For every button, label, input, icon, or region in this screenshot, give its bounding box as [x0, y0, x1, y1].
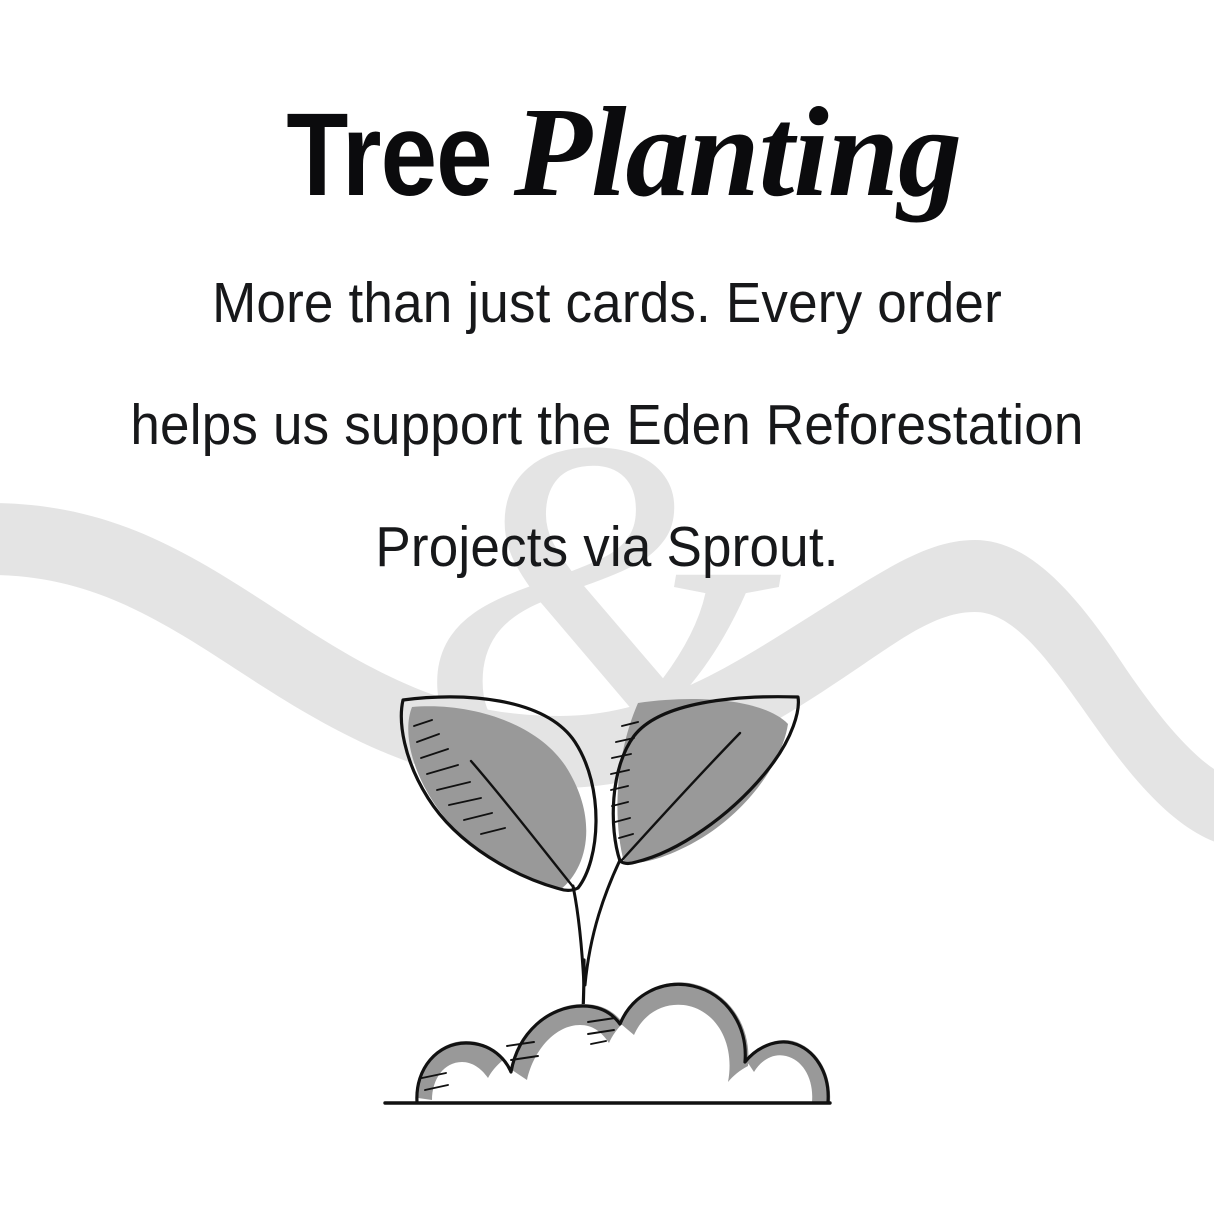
body-copy-line-3: Projects via Sprout.	[42, 486, 1171, 608]
left-leaf-vein	[471, 761, 574, 888]
body-copy-line-2: helps us support the Eden Reforestation	[42, 364, 1171, 486]
left-leaf-vein-ticks	[414, 720, 505, 834]
right-petiole	[585, 860, 620, 985]
tree-planting-graphic: & TreePlanting More than just cards. Eve…	[0, 0, 1214, 1214]
page-title: TreePlanting	[0, 0, 1214, 216]
plant-stem	[581, 960, 584, 1034]
soil-mound-outline	[417, 984, 828, 1102]
left-petiole	[573, 886, 584, 985]
soil-texture-ticks	[422, 1018, 615, 1090]
right-leaf-vein	[622, 733, 740, 860]
left-leaf-outline	[401, 697, 596, 891]
body-copy: More than just cards. Every order helps …	[0, 216, 1214, 608]
left-leaf-fill	[408, 706, 586, 890]
title-word-italic: Planting	[514, 88, 961, 216]
right-leaf-fill	[617, 699, 788, 863]
right-leaf-vein-ticks	[611, 722, 638, 838]
title-word-bold: Tree	[286, 96, 491, 214]
right-leaf-outline	[613, 697, 798, 864]
soil-mound-body	[417, 984, 828, 1102]
body-copy-line-1: More than just cards. Every order	[42, 242, 1171, 364]
text-content: TreePlanting More than just cards. Every…	[0, 0, 1214, 608]
soil-mound-shading	[418, 982, 830, 1102]
